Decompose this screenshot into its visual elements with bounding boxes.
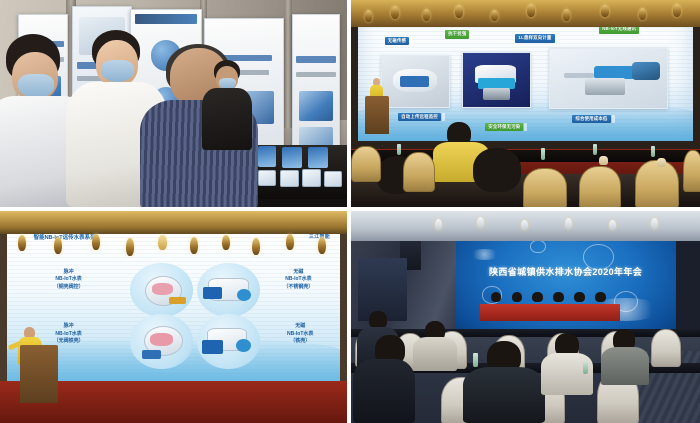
panelist-head — [532, 292, 542, 303]
label-line-1: 无磁 — [293, 269, 303, 275]
label-line-1: 脉冲 — [64, 269, 74, 275]
benefit-chip-2: 安全环保无污染 — [485, 123, 523, 131]
product-circle-top-right — [197, 263, 260, 317]
chandelier-lamp-icon — [126, 238, 134, 256]
chandelier-lamp-icon — [423, 9, 430, 21]
chandelier-lamp-icon — [54, 237, 62, 254]
product-photo-1 — [381, 55, 450, 108]
chandelier-lamp-icon — [252, 238, 260, 255]
water-bottle — [541, 148, 545, 160]
ceiling-light-icon — [651, 218, 658, 229]
product-photo-3 — [549, 48, 668, 109]
benefit-chip-3: 综合使用成本低 — [572, 115, 610, 123]
chandelier-lamp-icon — [391, 6, 399, 19]
product-label-bottom-left: 脉冲 NB-IoT水表 （无阀铁壳） — [54, 323, 84, 345]
audience-body-foreground — [463, 367, 545, 423]
chandelier-lamp-icon — [527, 4, 535, 17]
roll-up-banner-5 — [292, 14, 340, 152]
ceiling-light-icon — [477, 217, 484, 228]
banquet-chair — [683, 150, 700, 192]
chandelier-lamp-icon — [601, 5, 609, 17]
label-line-2: NB-IoT水表 — [55, 276, 81, 282]
banquet-chair — [635, 160, 679, 207]
banquet-chair — [351, 146, 381, 182]
audience-body-foreground — [353, 359, 415, 423]
product-circle-bottom-right — [197, 314, 260, 368]
photo-collage: 智能NB-IoT远传水表 三江智能 无磁传感 抗干扰强 1L盘样双向计量 NB-… — [0, 0, 700, 423]
panelist-head — [512, 292, 522, 303]
decor-cloud — [469, 249, 500, 259]
wall-pillar-right — [284, 0, 292, 128]
banquet-chair — [579, 166, 621, 207]
feature-chip-3: 1L盘样双向计量 — [515, 34, 554, 42]
chandelier-lamp-icon — [365, 10, 372, 22]
hall-ceiling — [0, 211, 347, 234]
panelist-head — [491, 292, 501, 303]
photo-panel-bottom-left: 智能NB-IoT远传水表系列 三江智能 — [0, 211, 347, 423]
ceiling-light-icon — [565, 218, 572, 229]
banquet-chair — [523, 168, 567, 207]
chandelier-lamp-icon — [286, 234, 294, 250]
water-bottle — [583, 361, 588, 374]
label-line-3: （铁壳） — [290, 338, 310, 344]
hall-ceiling — [351, 0, 700, 27]
photo-panel-bottom-right: 陕西省城镇供水排水协会2020年年会 — [351, 211, 700, 423]
teapot — [657, 158, 666, 167]
presentation-screen: 智能NB-IoT远传水表 三江智能 无磁传感 抗干扰强 1L盘样双向计量 NB-… — [358, 12, 693, 140]
panelist-head — [553, 292, 563, 303]
ceiling-light-icon — [521, 220, 528, 230]
chandelier-lamp-icon — [455, 5, 463, 18]
water-bottle — [473, 353, 478, 367]
ceiling-light-icon — [435, 219, 442, 230]
chandelier-lamp-icon — [222, 235, 230, 250]
label-line-3: （铜壳阀控） — [54, 284, 84, 290]
audience-chair — [651, 329, 681, 367]
product-circle-top-left — [130, 263, 193, 317]
meeting-title: 陕西省城镇供水排水协会2020年年会 — [462, 265, 669, 278]
panelist-head — [595, 292, 605, 303]
panelist-head — [574, 292, 584, 303]
product-photo-2 — [462, 52, 531, 108]
chandelier-lamp-icon — [318, 237, 326, 254]
feature-chip-1: 无磁传感 — [385, 37, 409, 45]
audience-body-white — [413, 337, 457, 371]
product-label-top-left: 脉冲 NB-IoT水表 （铜壳阀控） — [54, 269, 84, 291]
product-circle-bottom-left — [130, 314, 193, 368]
label-line-3: （无阀铁壳） — [54, 338, 84, 344]
led-backdrop: 陕西省城镇供水排水协会2020年年会 — [456, 226, 676, 343]
ceiling-light-icon — [609, 220, 616, 230]
label-line-1: 脉冲 — [64, 323, 74, 329]
decor-bubble — [530, 240, 545, 254]
benefit-chip-1: 自动上传远程监控 — [398, 113, 441, 121]
audience-body-white — [541, 353, 593, 395]
photo-panel-top-left — [0, 0, 347, 207]
label-line-1: 无磁 — [295, 323, 305, 329]
product-label-top-right: 无磁 NB-IoT水表 （不锈钢壳） — [283, 269, 313, 291]
label-line-2: NB-IoT水表 — [285, 276, 311, 282]
label-line-3: （不锈钢壳） — [283, 284, 313, 290]
chandelier-lamp-icon — [18, 235, 26, 251]
chandelier-lamp-icon — [190, 237, 198, 254]
label-line-2: NB-IoT水表 — [55, 331, 81, 337]
water-bottle — [397, 144, 401, 155]
feature-chip-2: 抗干扰强 — [445, 30, 469, 38]
panel-table — [480, 304, 620, 321]
water-bottle — [593, 144, 597, 155]
audience-head-foreground — [473, 148, 521, 192]
audience-body-grey — [601, 347, 649, 385]
product-label-bottom-right: 无磁 NB-IoT水表 （铁壳） — [287, 323, 313, 345]
podium — [20, 345, 58, 403]
label-line-2: NB-IoT水表 — [287, 331, 313, 337]
banquet-chair — [403, 152, 435, 192]
photo-panel-top-right: 智能NB-IoT远传水表 三江智能 无磁传感 抗干扰强 1L盘样双向计量 NB-… — [351, 0, 700, 207]
teapot — [599, 156, 608, 165]
water-bottle — [651, 146, 655, 157]
chandelier-lamp-icon — [92, 234, 100, 250]
chandelier-lamp-icon — [673, 4, 681, 17]
chandelier-lamp-icon — [491, 10, 498, 21]
chandelier-lamp-icon — [563, 9, 570, 21]
chandelier-lamp-icon — [158, 235, 167, 250]
chandelier-lamp-icon — [639, 8, 646, 20]
